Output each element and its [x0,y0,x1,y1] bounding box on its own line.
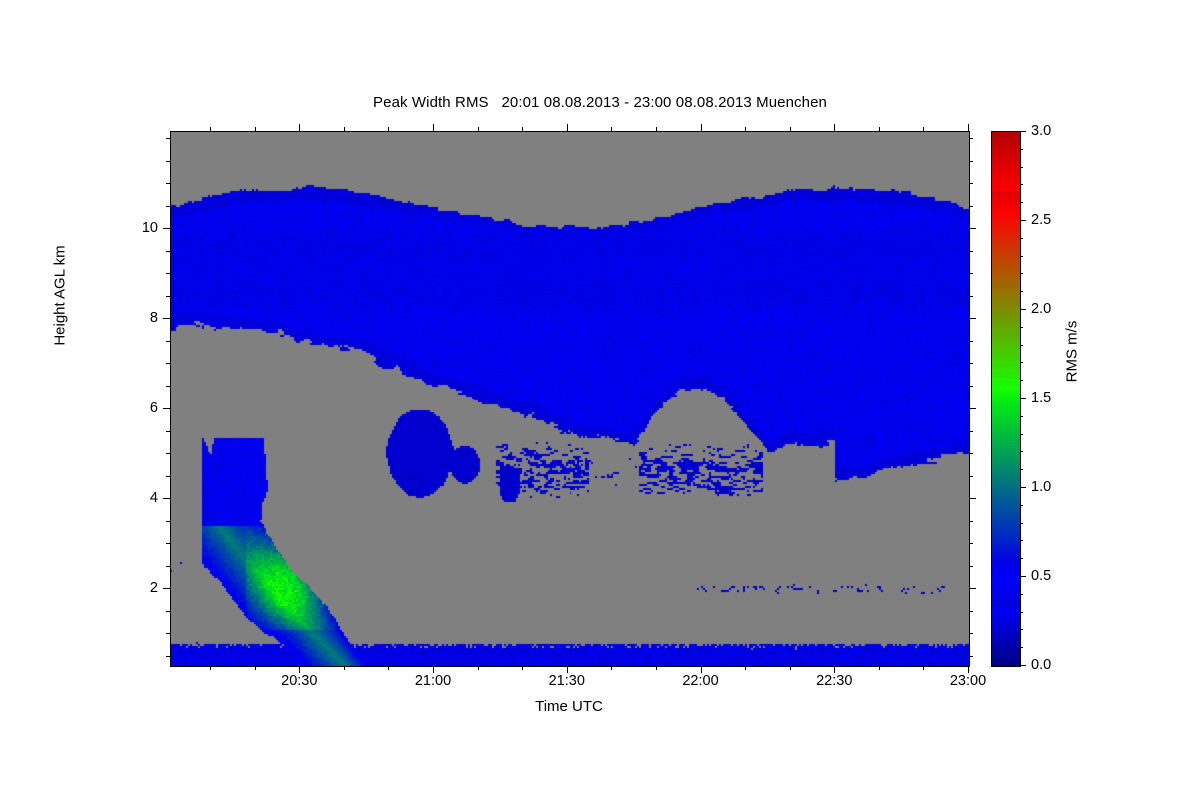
x-tick-label: 21:00 [415,673,451,689]
y-minor-tick [166,161,170,162]
y-major-tick [163,588,170,589]
x-major-tick [567,666,568,673]
y-major-tick-right [969,318,976,319]
y-major-tick [163,318,170,319]
x-minor-tick-top [255,127,256,131]
x-major-tick [433,666,434,673]
y-minor-tick [166,341,170,342]
y-minor-tick-right [969,431,973,432]
y-tick-label: 10 [106,220,158,236]
y-minor-tick [166,431,170,432]
x-tick-label: 21:30 [549,673,585,689]
y-minor-tick-right [969,183,973,184]
y-minor-tick [166,138,170,139]
figure-canvas: Peak Width RMS 20:01 08.08.2013 - 23:00 … [0,0,1200,800]
y-tick-label: 4 [106,490,158,506]
x-minor-tick-top [745,127,746,131]
x-minor-tick [879,666,880,670]
y-major-tick-right [969,228,976,229]
y-minor-tick-right [969,633,973,634]
x-minor-tick-top [344,127,345,131]
colorbar-label: RMS m/s [1064,262,1081,442]
y-minor-tick-right [969,521,973,522]
colorbar [991,131,1021,667]
y-minor-tick-right [969,543,973,544]
y-major-tick [163,228,170,229]
y-tick-label: 6 [106,400,158,416]
y-minor-tick [166,543,170,544]
page-title: Peak Width RMS 20:01 08.08.2013 - 23:00 … [0,94,1200,111]
y-minor-tick-right [969,273,973,274]
x-minor-tick-top [656,127,657,131]
y-minor-tick-right [969,656,973,657]
y-minor-tick [166,656,170,657]
x-major-tick-top [968,124,969,131]
x-minor-tick [745,666,746,670]
x-major-tick-top [433,124,434,131]
y-minor-tick-right [969,206,973,207]
y-minor-tick-right [969,251,973,252]
x-tick-label: 22:00 [682,673,718,689]
y-minor-tick-right [969,476,973,477]
x-minor-tick [611,666,612,670]
x-minor-tick [255,666,256,670]
x-tick-label: 23:00 [950,673,986,689]
colorbar-tick-label: 2.0 [1031,301,1051,317]
x-minor-tick-top [210,127,211,131]
colorbar-tick-label: 3.0 [1031,123,1051,139]
y-major-tick-right [969,408,976,409]
x-minor-tick [790,666,791,670]
x-axis-label: Time UTC [170,698,968,715]
y-minor-tick-right [969,296,973,297]
x-tick-label: 22:30 [816,673,852,689]
colorbar-gradient [992,132,1020,666]
x-major-tick [299,666,300,673]
y-minor-tick-right [969,363,973,364]
colorbar-tick-label: 2.5 [1031,212,1051,228]
y-minor-tick [166,566,170,567]
y-minor-tick [166,206,170,207]
x-minor-tick [210,666,211,670]
y-minor-tick [166,611,170,612]
y-minor-tick-right [969,453,973,454]
x-minor-tick [522,666,523,670]
x-minor-tick-top [388,127,389,131]
y-major-tick [163,498,170,499]
x-tick-label: 20:30 [281,673,317,689]
y-minor-tick [166,453,170,454]
x-minor-tick-top [478,127,479,131]
y-minor-tick [166,633,170,634]
y-minor-tick [166,251,170,252]
y-minor-tick [166,363,170,364]
x-minor-tick-top [923,127,924,131]
x-minor-tick-top [879,127,880,131]
x-major-tick-top [567,124,568,131]
colorbar-tick-label: 1.5 [1031,390,1051,406]
colorbar-tick-label: 0.5 [1031,568,1051,584]
x-minor-tick [388,666,389,670]
x-minor-tick-top [522,127,523,131]
y-minor-tick-right [969,566,973,567]
plot-area [170,131,970,667]
x-major-tick-top [834,124,835,131]
x-major-tick [701,666,702,673]
y-tick-label: 8 [106,310,158,326]
heatmap-canvas [171,132,969,666]
y-minor-tick-right [969,341,973,342]
colorbar-tick-label: 0.0 [1031,657,1051,673]
y-minor-tick-right [969,138,973,139]
y-minor-tick-right [969,386,973,387]
x-major-tick [834,666,835,673]
y-minor-tick [166,183,170,184]
x-major-tick [968,666,969,673]
x-minor-tick [656,666,657,670]
y-minor-tick [166,521,170,522]
y-major-tick-right [969,498,976,499]
y-minor-tick [166,476,170,477]
y-minor-tick [166,296,170,297]
x-minor-tick-top [790,127,791,131]
x-minor-tick [478,666,479,670]
y-minor-tick [166,386,170,387]
x-minor-tick-top [611,127,612,131]
x-major-tick-top [701,124,702,131]
y-axis-label: Height AGL km [52,184,69,408]
colorbar-tick-label: 1.0 [1031,479,1051,495]
y-minor-tick-right [969,611,973,612]
x-minor-tick [344,666,345,670]
y-tick-label: 2 [106,580,158,596]
x-minor-tick [923,666,924,670]
y-major-tick [163,408,170,409]
y-major-tick-right [969,588,976,589]
y-minor-tick [166,273,170,274]
y-minor-tick-right [969,161,973,162]
x-major-tick-top [299,124,300,131]
